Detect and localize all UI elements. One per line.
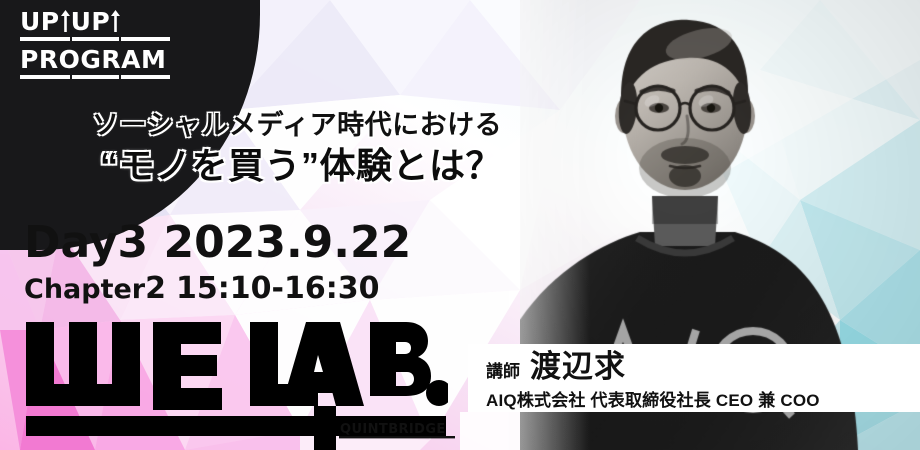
event-banner: UPUP PROGRAM ソーシャルメディア時代における “モノを買う”体験とは… [0,0,920,450]
upup-logo-line1-text: UPUP [20,8,170,36]
chapter-label: Chapter [24,274,145,305]
speaker-role-label: 講師 [486,357,520,382]
quintbridge-logo: QUINTBRIDGE [338,418,458,442]
day-label: Day3 [24,217,148,268]
upup-rule-1 [20,37,170,41]
event-schedule: Day3 2023.9.22 Chapter215:10-16:30 [24,218,411,308]
upup-word-b: UP [71,7,111,36]
event-chapter-row: Chapter215:10-16:30 [24,270,411,308]
event-date: 2023.9.22 [164,217,412,268]
speaker-name-row: 講師 渡辺求 [486,350,920,384]
we-lab-letterforms [26,322,448,410]
speaker-name: 渡辺求 [530,350,626,384]
upup-logo-line2: PROGRAM [20,46,170,78]
upup-word-a: UP [20,7,60,36]
headline-line-2: “モノを買う”体験とは？ [100,144,572,188]
speaker-info-bar: 講師 渡辺求 AIQ株式会社 代表取締役社長 CEO 兼 COO [468,344,920,412]
upup-logo-line1: UPUP [20,8,170,40]
event-time: 15:10-16:30 [176,271,379,306]
speaker-title: AIQ株式会社 代表取締役社長 CEO 兼 COO [486,386,920,411]
chapter-number: 2 [145,271,166,306]
up-up-program-logo: UPUP PROGRAM [20,8,170,78]
headline-line-1: ソーシャルメディア時代における [92,108,572,142]
we-lab-logo: QUINTBRIDGE [18,318,448,450]
event-date-row: Day3 2023.9.22 [24,218,411,268]
quintbridge-logo-text: QUINTBRIDGE [340,422,446,437]
upup-rule-2 [20,75,170,79]
upup-logo-line2-text: PROGRAM [20,46,170,74]
event-headline: ソーシャルメディア時代における “モノを買う”体験とは？ [92,108,572,188]
